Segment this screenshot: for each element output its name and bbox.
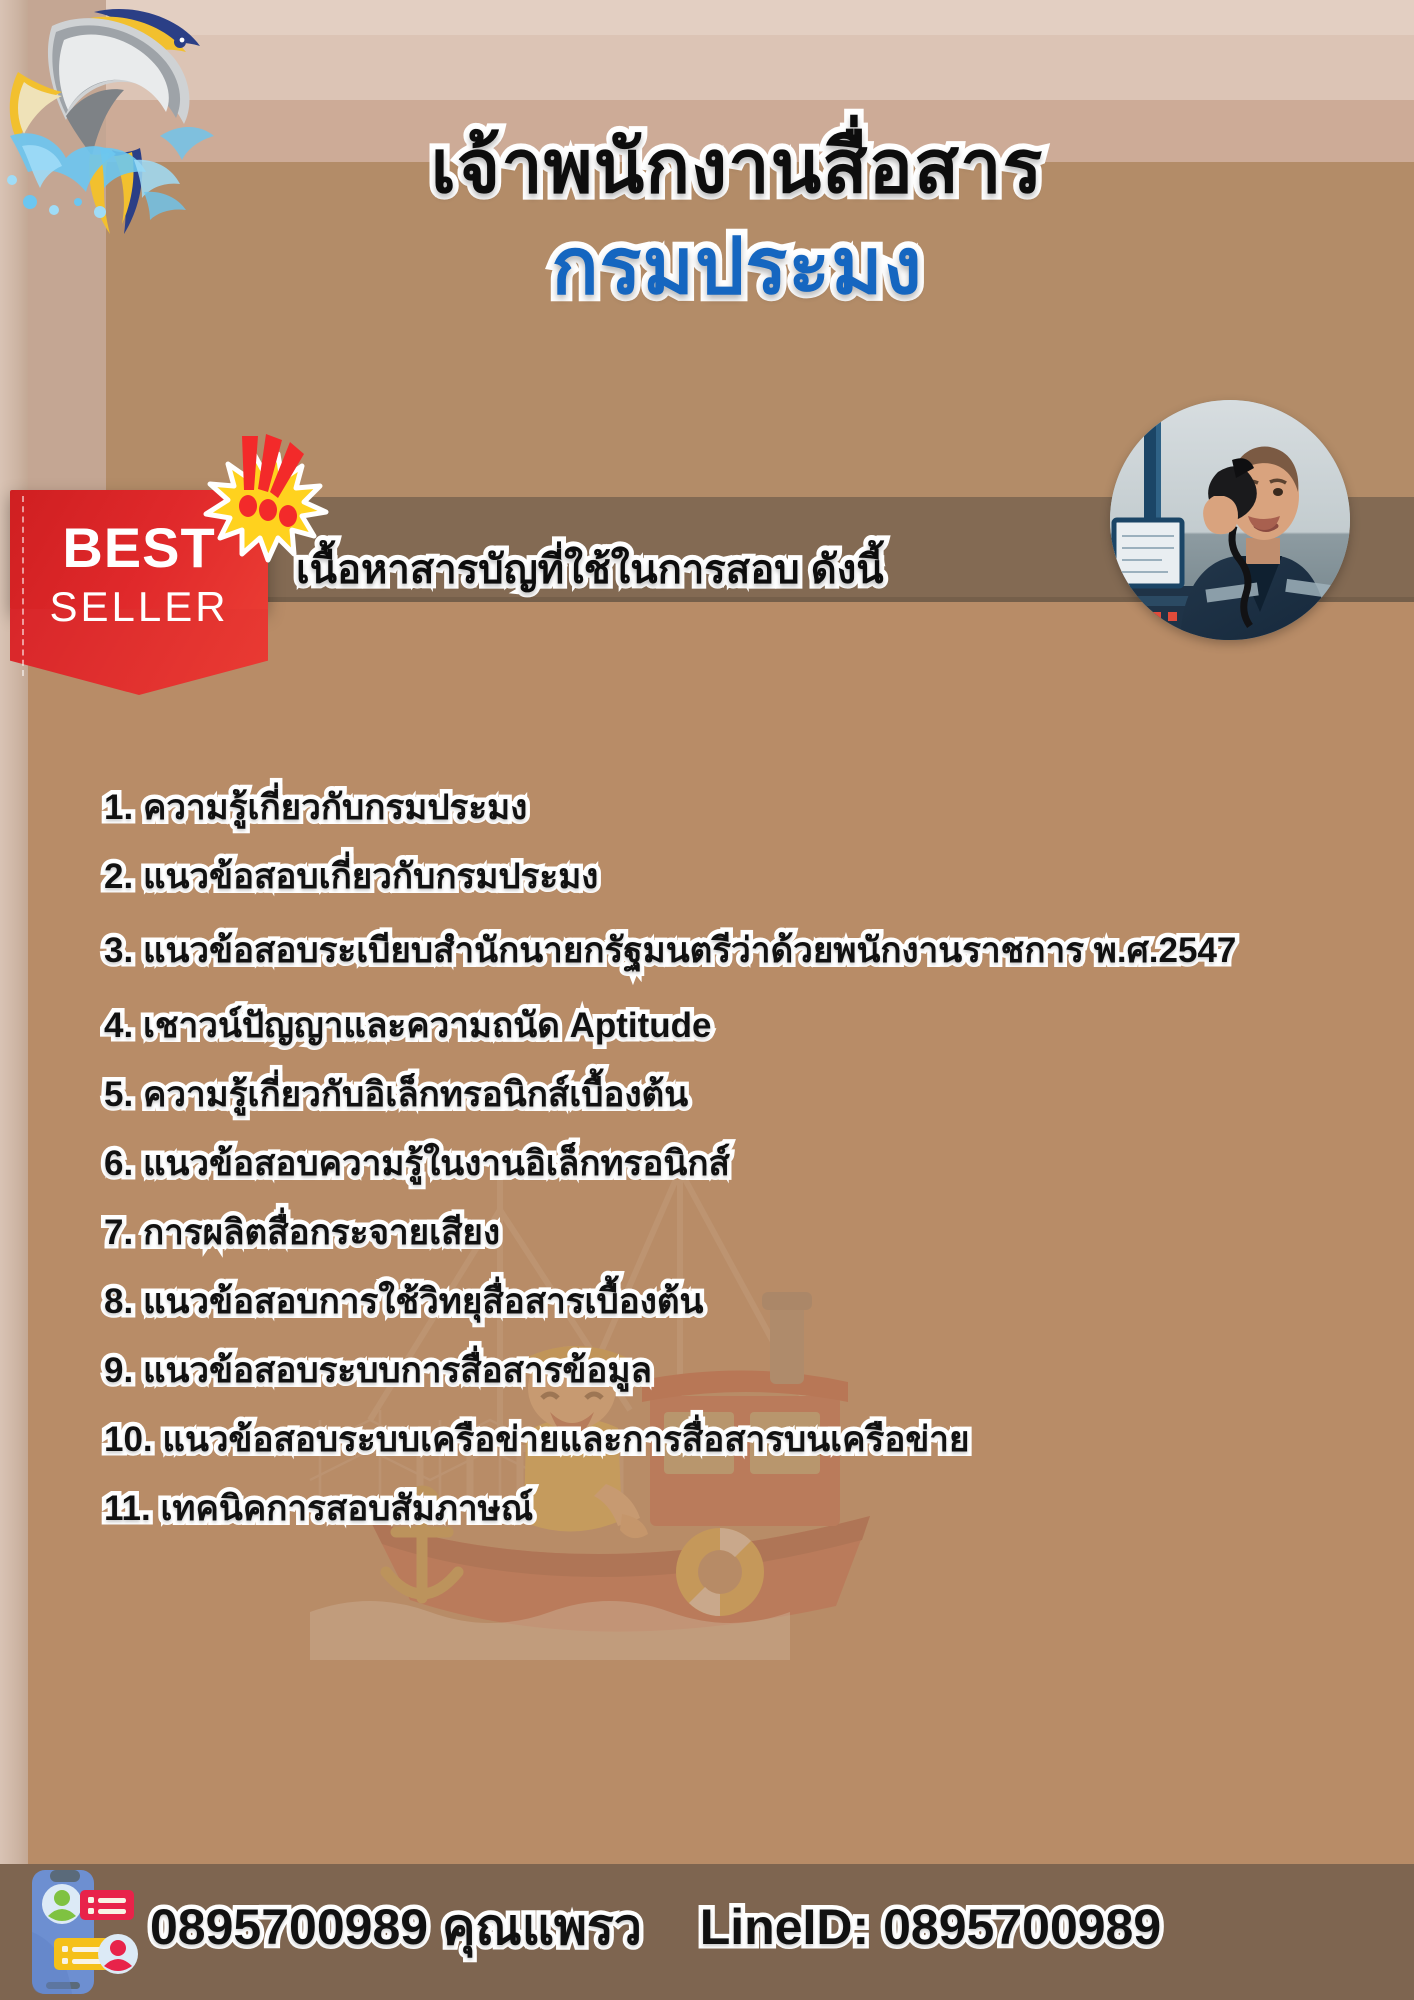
phone-contacts-icon[interactable] (14, 1868, 142, 1996)
list-item-label: แนวข้อสอบความรู้ในงานอิเล็กทรอนิกส์ (143, 1144, 730, 1183)
list-item-number: 1. (104, 788, 133, 827)
list-item-label: แนวข้อสอบระบบการสื่อสารข้อมูล (143, 1351, 652, 1390)
title-block: เจ้าพนักงานสื่อสาร กรมประมง (0, 128, 1414, 308)
list-item-number: 8. (104, 1282, 133, 1321)
list-item-label: เทคนิคการสอบสัมภาษณ์ (160, 1489, 533, 1528)
list-item-label: แนวข้อสอบเกี่ยวกับกรมประมง (143, 857, 598, 896)
syllabus-list: 1. ความรู้เกี่ยวกับกรมประมง 2. แนวข้อสอบ… (104, 790, 1344, 1560)
ribbon-stitch-line (22, 496, 25, 676)
list-item: 9. แนวข้อสอบระบบการสื่อสารข้อมูล (104, 1353, 1344, 1388)
list-item: 4. เชาวน์ปัญญาและความถนัด Aptitude (104, 1008, 1344, 1043)
list-item-number: 7. (104, 1213, 133, 1252)
list-item-label: แนวข้อสอบระบบเครือข่ายและการสื่อสารบนเคร… (162, 1420, 969, 1459)
list-item-number: 3. (104, 931, 133, 970)
footer-line-label: LineID: (700, 1899, 869, 1955)
list-item: 2. แนวข้อสอบเกี่ยวกับกรมประมง (104, 859, 1344, 894)
list-item-number: 2. (104, 857, 133, 896)
list-item: 5. ความรู้เกี่ยวกับอิเล็กทรอนิกส์เบื้องต… (104, 1077, 1344, 1112)
list-item-number: 9. (104, 1351, 133, 1390)
list-item-number: 4. (104, 1006, 133, 1045)
footer-contact-name: คุณแพรว (442, 1899, 642, 1955)
list-item-number: 10. (104, 1420, 153, 1459)
page-title-line1: เจ้าพนักงานสื่อสาร (60, 128, 1414, 206)
list-item-label: การผลิตสื่อกระจายเสียง (143, 1213, 500, 1252)
list-item: 11. เทคนิคการสอบสัมภาษณ์ (104, 1491, 1344, 1526)
list-item: 6. แนวข้อสอบความรู้ในงานอิเล็กทรอนิกส์ (104, 1146, 1344, 1181)
page-title-line2: กรมประมง (60, 226, 1414, 308)
exclamation-burst-icon (198, 430, 334, 566)
list-item: 3. แนวข้อสอบระเบียบสำนักนายกรัฐมนตรีว่าด… (104, 928, 1344, 974)
footer-contact-bar: 0895700989 คุณแพรว LineID: 0895700989 (150, 1888, 1400, 1967)
list-item: 10. แนวข้อสอบระบบเครือข่ายและการสื่อสารบ… (104, 1422, 1344, 1457)
footer-line-id[interactable]: 0895700989 (883, 1899, 1161, 1955)
list-item-number: 6. (104, 1144, 133, 1183)
poster-root: เจ้าพนักงานสื่อสาร กรมประมง (0, 0, 1414, 2000)
footer-phone-number[interactable]: 0895700989 (150, 1899, 428, 1955)
list-item-number: 5. (104, 1075, 133, 1114)
list-item: 7. การผลิตสื่อกระจายเสียง (104, 1215, 1344, 1250)
list-item-label: เชาวน์ปัญญาและความถนัด Aptitude (143, 1006, 712, 1045)
subtitle-banner: เนื้อหาสารบัญที่ใช้ในการสอบ ดังนี้ (296, 537, 996, 601)
list-item: 8. แนวข้อสอบการใช้วิทยุสื่อสารเบื้องต้น (104, 1284, 1344, 1319)
list-item-label: แนวข้อสอบระเบียบสำนักนายกรัฐมนตรีว่าด้วย… (143, 931, 1236, 970)
radio-operator-photo (1110, 400, 1350, 640)
list-item-label: ความรู้เกี่ยวกับกรมประมง (143, 788, 527, 827)
list-item: 1. ความรู้เกี่ยวกับกรมประมง (104, 790, 1344, 825)
list-item-label: แนวข้อสอบการใช้วิทยุสื่อสารเบื้องต้น (143, 1282, 704, 1321)
list-item-label: ความรู้เกี่ยวกับอิเล็กทรอนิกส์เบื้องต้น (143, 1075, 688, 1114)
list-item-number: 11. (104, 1489, 151, 1528)
